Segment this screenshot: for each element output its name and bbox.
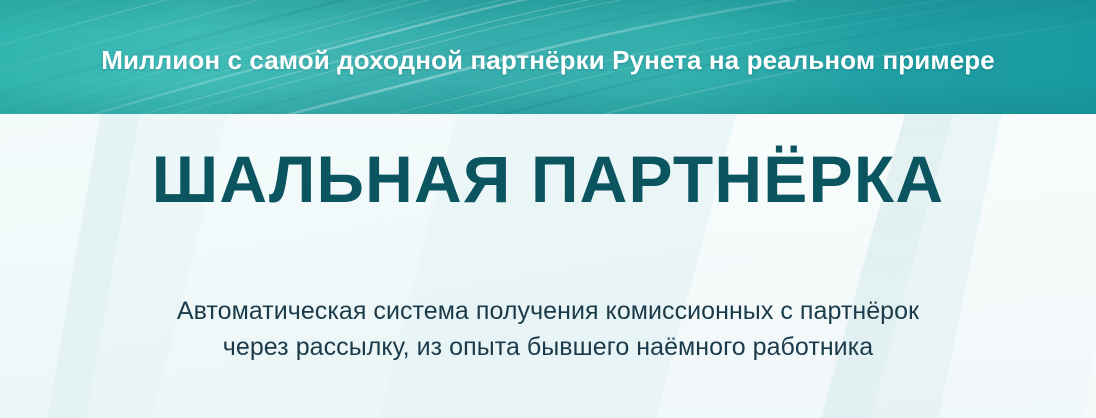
hero-subtitle: Автоматическая система получения комисси… bbox=[0, 294, 1096, 365]
landing-page-hero: Миллион с самой доходной партнёрки Рунет… bbox=[0, 0, 1096, 418]
hero-subtitle-line-1: Автоматическая система получения комисси… bbox=[0, 294, 1096, 330]
hero-subtitle-line-2: через рассылку, из опыта бывшего наёмног… bbox=[0, 330, 1096, 366]
hero-content: ШАЛЬНАЯ ПАРТНЁРКА Автоматическая система… bbox=[0, 114, 1096, 418]
banner-headline: Миллион с самой доходной партнёрки Рунет… bbox=[0, 0, 1096, 114]
page-title: ШАЛЬНАЯ ПАРТНЁРКА bbox=[0, 146, 1096, 213]
hero-section: ШАЛЬНАЯ ПАРТНЁРКА Автоматическая система… bbox=[0, 114, 1096, 418]
top-banner: Миллион с самой доходной партнёрки Рунет… bbox=[0, 0, 1096, 114]
